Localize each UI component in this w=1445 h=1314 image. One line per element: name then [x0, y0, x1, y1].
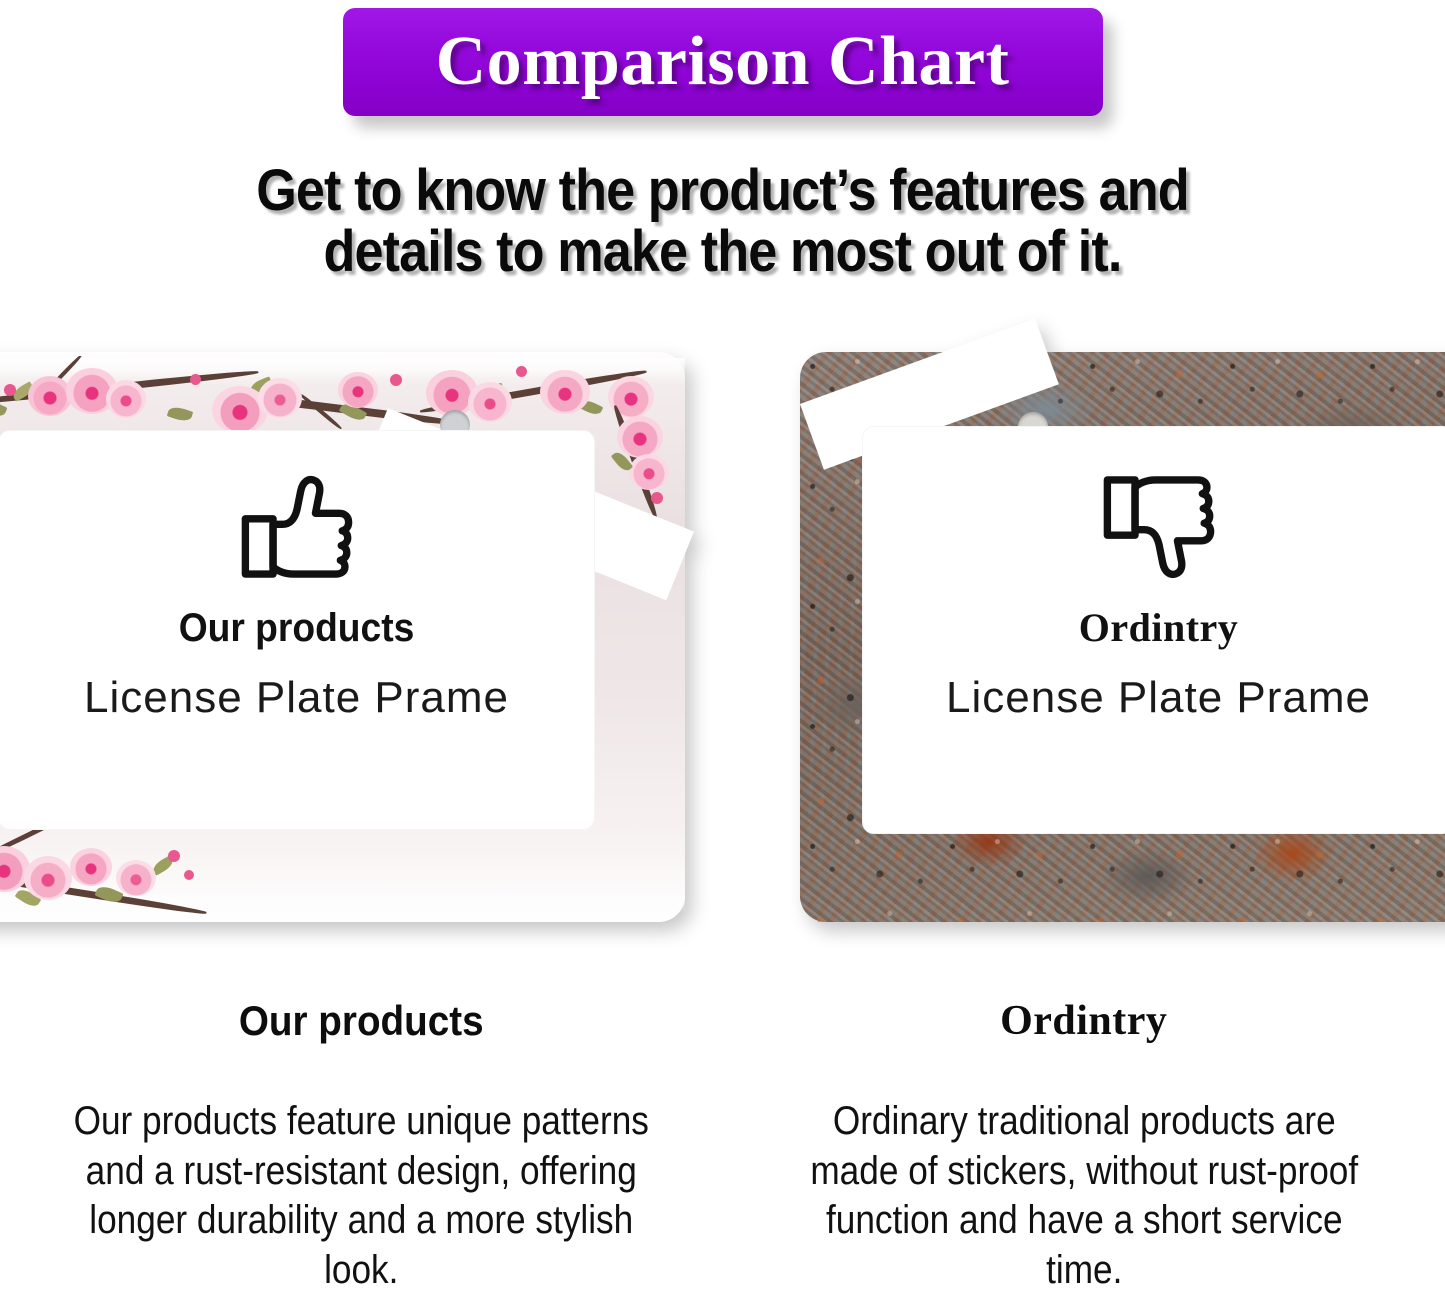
thumbs-up-icon	[238, 472, 356, 584]
subtitle-line-1: Get to know the product’s features and	[72, 160, 1373, 221]
title-banner-container: Comparison Chart	[0, 8, 1445, 116]
our-product-brand-label: Our products	[19, 606, 574, 651]
cherry-blossom-decoration-bottom	[0, 826, 340, 916]
cherry-blossom-decoration-top	[0, 356, 685, 432]
title-banner: Comparison Chart	[343, 8, 1103, 116]
page-title: Comparison Chart	[343, 8, 1103, 116]
page-subtitle: Get to know the product’s features and d…	[72, 160, 1373, 283]
subtitle-line-2: details to make the most out of it.	[72, 221, 1373, 282]
our-product-frame-content: Our products License Plate Prame	[0, 472, 595, 723]
our-product-description-body: Our products feature unique patterns and…	[70, 1097, 653, 1295]
ordinary-product-name-label: License Plate Prame	[862, 673, 1445, 723]
thumbs-down-icon	[1100, 470, 1218, 582]
comparison-description-section: Our products Our products feature unique…	[0, 975, 1445, 1314]
ordinary-product-description-column: Ordintry Ordinary traditional products a…	[723, 975, 1445, 1314]
ordinary-product-frame-content: Ordintry License Plate Prame	[862, 470, 1445, 723]
ordinary-product-brand-label: Ordintry	[862, 604, 1445, 651]
our-product-description-heading: Our products	[57, 997, 667, 1045]
ordinary-product-description-body: Ordinary traditional products are made o…	[792, 1097, 1375, 1295]
gloss-highlight-bottom	[0, 896, 685, 912]
our-product-name-label: License Plate Prame	[0, 673, 595, 723]
gloss-highlight-top	[0, 358, 685, 380]
product-comparison-images: Our products License Plate Prame Ordintr…	[0, 352, 1445, 937]
our-product-description-column: Our products Our products feature unique…	[0, 975, 723, 1314]
ordinary-product-frame-image: Ordintry License Plate Prame	[800, 352, 1445, 922]
our-product-frame-image: Our products License Plate Prame	[0, 352, 685, 922]
ordinary-product-description-heading: Ordintry	[753, 997, 1416, 1045]
